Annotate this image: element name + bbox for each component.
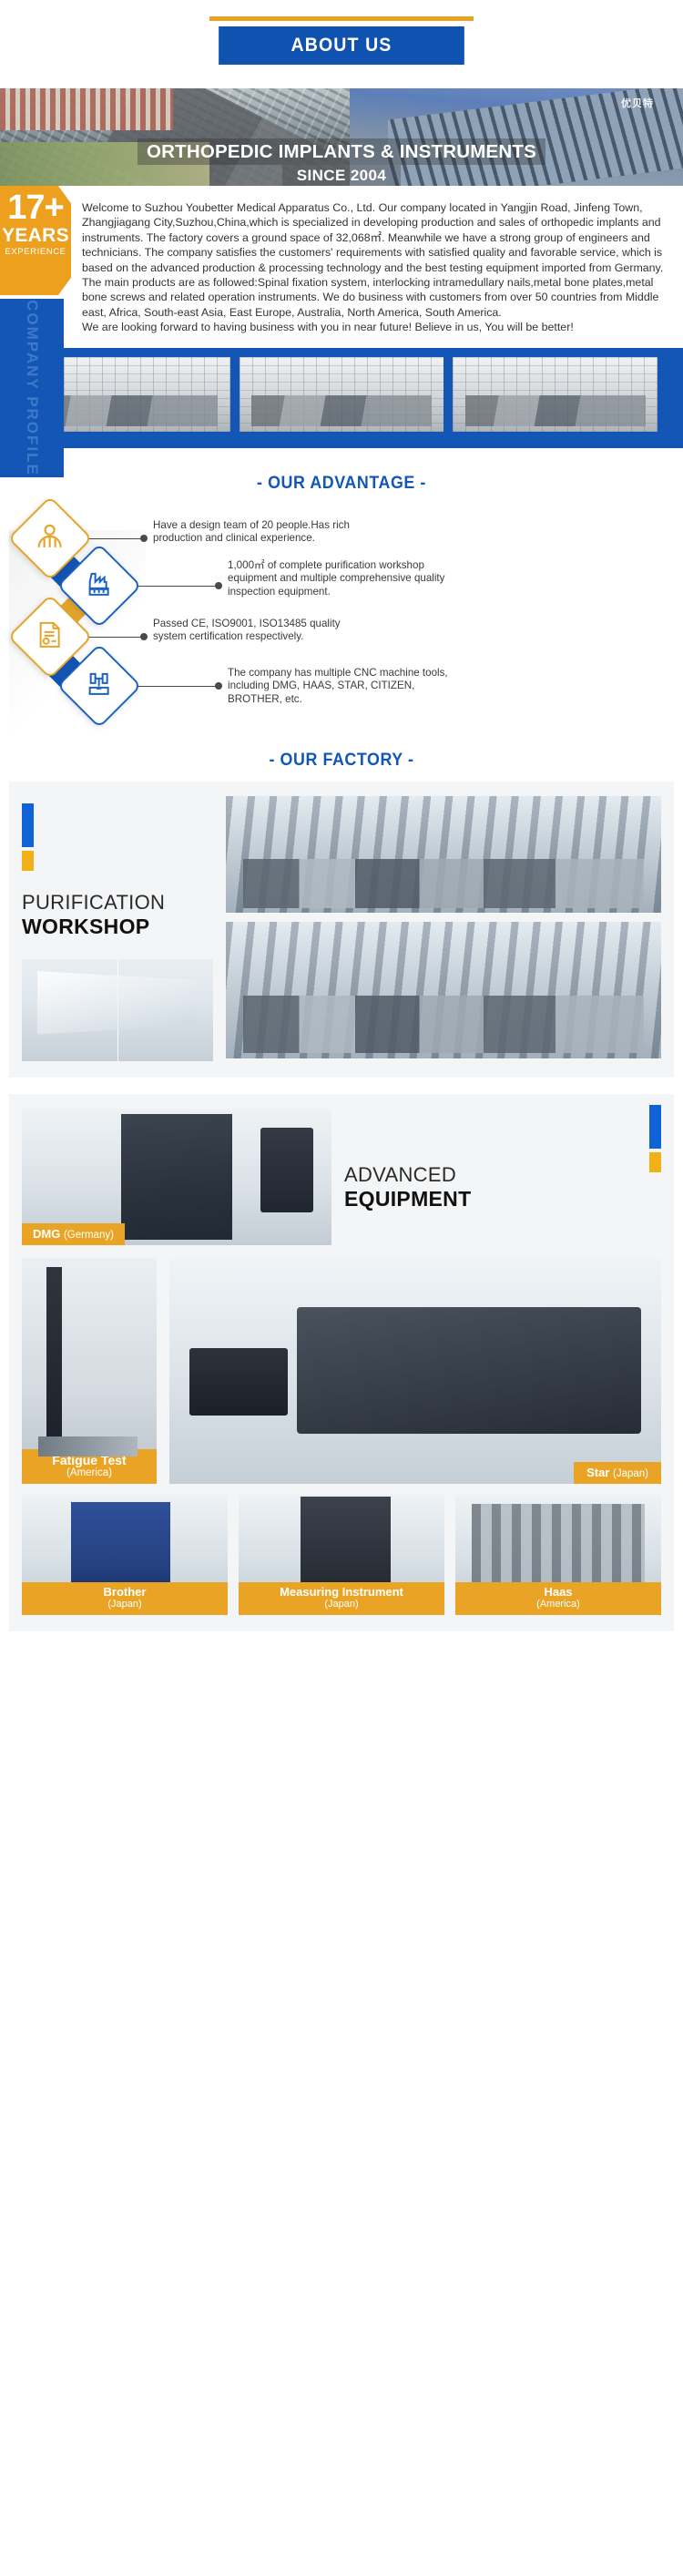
equipment-photo-measuring: Measuring Instrument (Japan) xyxy=(239,1495,444,1615)
office-photo-2 xyxy=(240,357,444,432)
advantage-text-1: Have a design team of 20 people.Has rich… xyxy=(153,519,362,546)
advantage-connector-1 xyxy=(80,538,144,539)
badge-experience-label: EXPERIENCE xyxy=(0,247,71,257)
hero-caption-primary: ORTHOPEDIC IMPLANTS & INSTRUMENTS xyxy=(0,138,683,165)
equipment-photo-haas: Haas (America) xyxy=(455,1495,661,1615)
cnc-machine-icon xyxy=(85,670,114,701)
building-logo: 优贝特 xyxy=(621,96,654,110)
equipment-heading-block: ADVANCED EQUIPMENT xyxy=(344,1109,661,1211)
equipment-tag-haas: Haas (America) xyxy=(455,1582,661,1615)
office-photo-3 xyxy=(453,357,658,432)
equipment-tag-fatigue: Fatigue Test (America) xyxy=(22,1449,157,1484)
equipment-tag-fatigue-country: (America) xyxy=(22,1467,157,1478)
advantage-text-3: Passed CE, ISO9001, ISO13485 quality sys… xyxy=(153,618,362,644)
company-profile-vertical-label: COMPANY PROFILE xyxy=(23,300,41,476)
badge-number: 17+ xyxy=(0,189,71,226)
advantage-connector-3 xyxy=(80,637,144,638)
advantage-text-4: The company has multiple CNC machine too… xyxy=(228,667,455,707)
equipment-tag-star: Star (Japan) xyxy=(574,1462,661,1484)
hero-banner: 优贝特 ORTHOPEDIC IMPLANTS & INSTRUMENTS SI… xyxy=(0,88,683,186)
equipment-bars xyxy=(649,1105,661,1172)
factory-photo-workshop-2 xyxy=(226,922,661,1058)
equipment-tag-fatigue-name: Fatigue Test xyxy=(22,1453,157,1467)
advantage-dot-2 xyxy=(215,582,222,589)
factory-photo-column xyxy=(226,796,661,1061)
factory-heading-line2: WORKSHOP xyxy=(22,915,213,939)
equipment-tag-dmg-country: (Germany) xyxy=(64,1230,114,1241)
certificate-icon xyxy=(37,619,63,653)
equipment-tag-brother-country: (Japan) xyxy=(22,1599,228,1610)
years-experience-badge: 17+ YEARS EXPERIENCE xyxy=(0,186,71,295)
equipment-tag-measuring-name: Measuring Instrument xyxy=(239,1585,444,1599)
advantage-text-2: 1,000㎡ of complete purification workshop… xyxy=(228,559,464,599)
hero-caption-line2: SINCE 2004 xyxy=(282,165,402,186)
factory-panel: PURIFICATION WORKSHOP xyxy=(9,782,674,1078)
equipment-tag-haas-country: (America) xyxy=(455,1599,661,1610)
about-us-rule xyxy=(209,16,474,21)
advantage-dot-4 xyxy=(215,682,222,690)
equipment-tag-star-country: (Japan) xyxy=(613,1468,648,1479)
factory-heading-line1: PURIFICATION xyxy=(22,891,213,915)
factory-icon xyxy=(85,569,114,601)
about-us-title: ABOUT US xyxy=(219,26,464,65)
advantage-connector-2 xyxy=(129,586,219,587)
equipment-tag-star-name: Star xyxy=(586,1466,609,1479)
equipment-photo-fatigue: Fatigue Test (America) xyxy=(22,1258,157,1484)
advantage-section: Have a design team of 20 people.Has rich… xyxy=(0,499,683,725)
equipment-panel: DMG (Germany) ADVANCED EQUIPMENT Fatigue… xyxy=(9,1094,674,1631)
factory-section-title: - OUR FACTORY - xyxy=(21,725,663,776)
equipment-tag-brother: Brother (Japan) xyxy=(22,1582,228,1615)
profile-paragraph-1: Welcome to Suzhou Youbetter Medical Appa… xyxy=(82,200,667,275)
equipment-photo-brother: Brother (Japan) xyxy=(22,1495,228,1615)
company-profile-text: Welcome to Suzhou Youbetter Medical Appa… xyxy=(82,186,683,348)
factory-photo-workshop-1 xyxy=(226,796,661,913)
equipment-heading-line1: ADVANCED xyxy=(344,1163,661,1187)
team-icon xyxy=(35,522,66,554)
equipment-photo-star: Star (Japan) xyxy=(169,1258,661,1484)
equipment-tag-measuring-country: (Japan) xyxy=(239,1599,444,1610)
equipment-bar-blue xyxy=(649,1105,661,1149)
equipment-tag-haas-name: Haas xyxy=(455,1585,661,1599)
equipment-tag-brother-name: Brother xyxy=(22,1585,228,1599)
equipment-heading-line2: EQUIPMENT xyxy=(344,1187,661,1211)
advantage-dot-3 xyxy=(140,633,148,640)
factory-bar-gold xyxy=(22,851,34,871)
hero-caption-secondary: SINCE 2004 xyxy=(0,165,683,186)
equipment-photo-dmg: DMG (Germany) xyxy=(22,1109,331,1245)
equipment-tag-dmg-name: DMG xyxy=(33,1227,60,1241)
factory-heading-block: PURIFICATION WORKSHOP xyxy=(22,796,213,1061)
equipment-tag-dmg: DMG (Germany) xyxy=(22,1223,125,1245)
company-profile-section: 17+ YEARS EXPERIENCE COMPANY PROFILE Wel… xyxy=(0,186,683,348)
company-profile-vertical-bar: COMPANY PROFILE xyxy=(0,299,64,477)
advantage-connector-4 xyxy=(129,686,219,687)
factory-photo-corridor xyxy=(22,959,213,1061)
office-photo-strip xyxy=(0,348,683,448)
badge-years-label: YEARS xyxy=(0,226,71,245)
factory-bar-blue xyxy=(22,803,34,847)
advantage-dot-1 xyxy=(140,535,148,542)
profile-paragraph-2: The main products are as followed:Spinal… xyxy=(82,275,667,320)
profile-paragraph-3: We are looking forward to having busines… xyxy=(82,320,667,334)
about-us-header: ABOUT US xyxy=(0,0,683,88)
hero-caption-line1: ORTHOPEDIC IMPLANTS & INSTRUMENTS xyxy=(138,138,545,165)
advantage-section-title: - OUR ADVANTAGE - xyxy=(21,448,663,499)
equipment-bar-gold xyxy=(649,1152,661,1172)
equipment-tag-measuring: Measuring Instrument (Japan) xyxy=(239,1582,444,1615)
